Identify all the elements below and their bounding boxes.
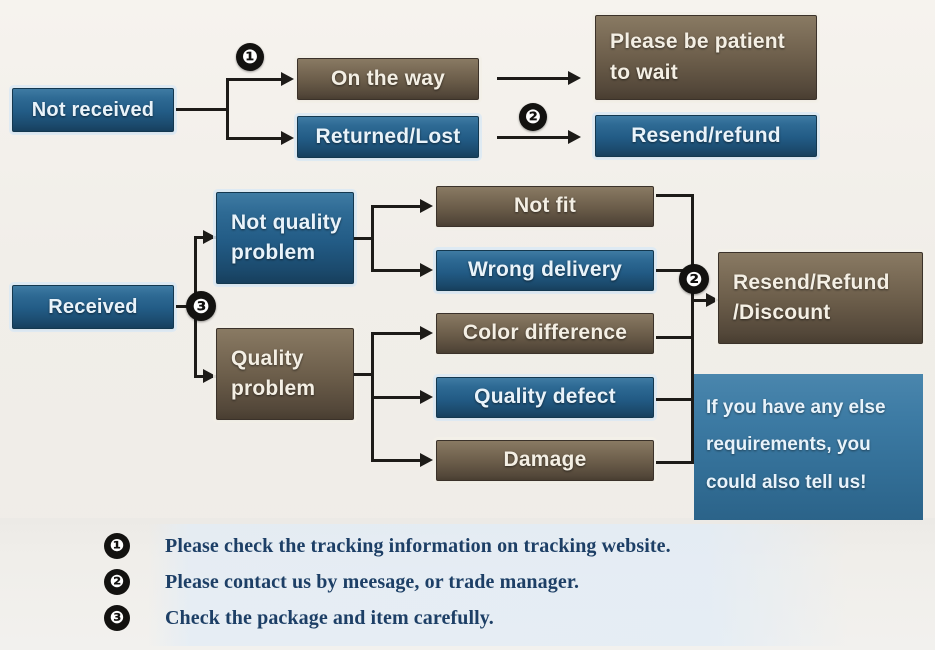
node-quality-problem-line1: Quality [231,344,304,374]
arrowhead-to-returned-lost [281,131,294,145]
node-resend-refund-discount-line1: Resend/Refund [733,268,890,298]
flowchart-canvas: Not received ❶ On the way Returned/Lost … [0,0,935,650]
node-received-label: Received [48,293,137,322]
node-resend-refund-discount[interactable]: Resend/Refund /Discount [718,252,923,344]
arrowhead-to-on-the-way [281,72,294,86]
node-not-fit-label: Not fit [514,191,576,221]
arrowhead-to-not-quality-problem [203,230,216,244]
node-please-be-patient-line1: Please be patient [610,27,785,57]
connector-merge-not-fit [656,194,694,197]
node-damage-label: Damage [504,445,587,475]
legend-badge-2: ❷ [104,569,130,595]
node-not-fit[interactable]: Not fit [436,186,654,227]
arrowhead-to-wrong-delivery [420,263,433,277]
node-on-the-way[interactable]: On the way [297,58,479,100]
node-damage[interactable]: Damage [436,440,654,481]
connector-not-quality-bracket [371,205,374,271]
connector-not-received-stem [176,108,228,111]
connector-to-wrong-delivery [371,269,423,272]
node-not-quality-problem-line2: problem [231,238,315,268]
legend-text-2: Please contact us by meesage, or trade m… [165,571,579,594]
node-resend-refund[interactable]: Resend/refund [595,115,817,157]
connector-merge-damage [656,461,694,464]
arrowhead-to-damage [420,453,433,467]
node-not-quality-problem[interactable]: Not quality problem [216,192,354,284]
connector-not-received-bracket [226,78,229,140]
connector-to-color-difference [371,332,423,335]
callout-line2: requirements, you [706,426,911,463]
node-not-quality-problem-line1: Not quality [231,208,342,238]
arrowhead-to-quality-problem [203,369,216,383]
node-quality-problem-line2: problem [231,374,315,404]
node-not-received[interactable]: Not received [12,88,174,132]
node-resend-refund-discount-line2: /Discount [733,298,830,328]
legend-badge-3: ❸ [104,605,130,631]
connector-merge-quality-defect [656,398,694,401]
legend-badge-1: ❶ [104,533,130,559]
legend-text-1: Please check the tracking information on… [165,535,671,558]
legend-item: ❷ Please contact us by meesage, or trade… [104,564,884,600]
badge-two-middle-label: ❷ [686,269,703,289]
legend-item: ❶ Please check the tracking information … [104,528,884,564]
legend-item: ❸ Check the package and item carefully. [104,600,884,636]
arrowhead-to-patient [568,71,581,85]
node-please-be-patient[interactable]: Please be patient to wait [595,15,817,100]
node-returned-lost-label: Returned/Lost [316,122,461,152]
node-not-received-label: Not received [32,96,154,125]
badge-two-top-label: ❷ [525,108,541,127]
node-please-be-patient-line2: to wait [610,58,678,88]
node-quality-defect-label: Quality defect [474,382,616,412]
callout-extra-requirements: If you have any else requirements, you c… [694,374,923,520]
node-wrong-delivery-label: Wrong delivery [468,255,622,285]
badge-two-top: ❷ [519,103,547,131]
badge-three-middle-label: ❸ [193,296,210,316]
node-quality-problem[interactable]: Quality problem [216,328,354,420]
connector-to-damage [371,459,423,462]
node-on-the-way-label: On the way [331,64,445,94]
node-returned-lost[interactable]: Returned/Lost [297,116,479,158]
callout-line1: If you have any else [706,389,911,426]
node-color-difference[interactable]: Color difference [436,313,654,354]
badge-two-middle: ❷ [679,264,709,294]
connector-returned-lost-to-resend [497,136,571,139]
connector-to-not-fit [371,205,423,208]
callout-line3: could also tell us! [706,464,911,501]
connector-to-on-the-way [226,78,284,81]
arrowhead-to-not-fit [420,199,433,213]
arrowhead-to-quality-defect [420,390,433,404]
legend: ❶ Please check the tracking information … [104,528,884,636]
arrowhead-to-color-difference [420,326,433,340]
node-quality-defect[interactable]: Quality defect [436,377,654,418]
arrowhead-to-resend [568,130,581,144]
connector-to-returned-lost [226,137,284,140]
badge-three-middle: ❸ [186,291,216,321]
connector-merge-color-difference [656,336,694,339]
node-resend-refund-label: Resend/refund [631,121,781,151]
connector-to-quality-defect [371,396,423,399]
legend-text-3: Check the package and item carefully. [165,607,494,630]
badge-one-top: ❶ [236,43,264,71]
node-wrong-delivery[interactable]: Wrong delivery [436,250,654,291]
node-received[interactable]: Received [12,285,174,329]
node-color-difference-label: Color difference [463,318,627,348]
badge-one-top-label: ❶ [242,48,258,67]
connector-on-the-way-to-patient [497,77,571,80]
